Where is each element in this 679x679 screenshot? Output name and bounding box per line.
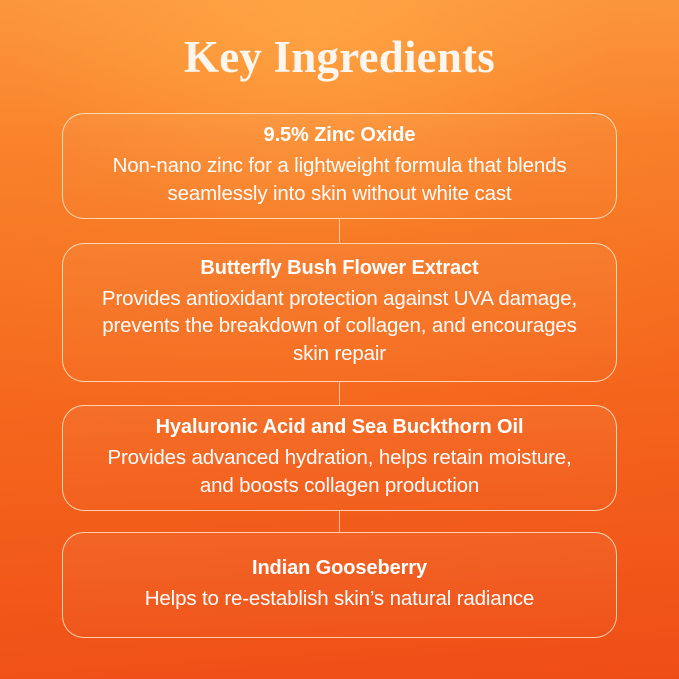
- page-title: Key Ingredients: [0, 33, 679, 83]
- key-ingredients-poster: Key Ingredients 9.5% Zinc Oxide Non-nano…: [0, 0, 679, 679]
- ingredient-description: Non-nano zinc for a lightweight formula …: [89, 152, 590, 207]
- ingredient-description: Provides advanced hydration, helps retai…: [89, 444, 590, 499]
- ingredient-description: Provides antioxidant protection against …: [89, 285, 590, 367]
- ingredient-card-hyaluronic-acid-sea-buckthorn-oil: Hyaluronic Acid and Sea Buckthorn Oil Pr…: [62, 405, 617, 511]
- ingredient-card-indian-gooseberry: Indian Gooseberry Helps to re-establish …: [62, 532, 617, 638]
- ingredient-heading: Butterfly Bush Flower Extract: [200, 256, 478, 281]
- card-connector-line: [339, 382, 340, 405]
- ingredient-card-butterfly-bush-flower-extract: Butterfly Bush Flower Extract Provides a…: [62, 243, 617, 382]
- ingredient-heading: Indian Gooseberry: [252, 556, 427, 581]
- ingredient-heading: Hyaluronic Acid and Sea Buckthorn Oil: [156, 415, 524, 440]
- card-connector-line: [339, 219, 340, 243]
- ingredient-description: Helps to re-establish skin’s natural rad…: [145, 585, 534, 612]
- ingredient-card-zinc-oxide: 9.5% Zinc Oxide Non-nano zinc for a ligh…: [62, 113, 617, 219]
- card-connector-line: [339, 511, 340, 532]
- ingredient-heading: 9.5% Zinc Oxide: [264, 123, 416, 148]
